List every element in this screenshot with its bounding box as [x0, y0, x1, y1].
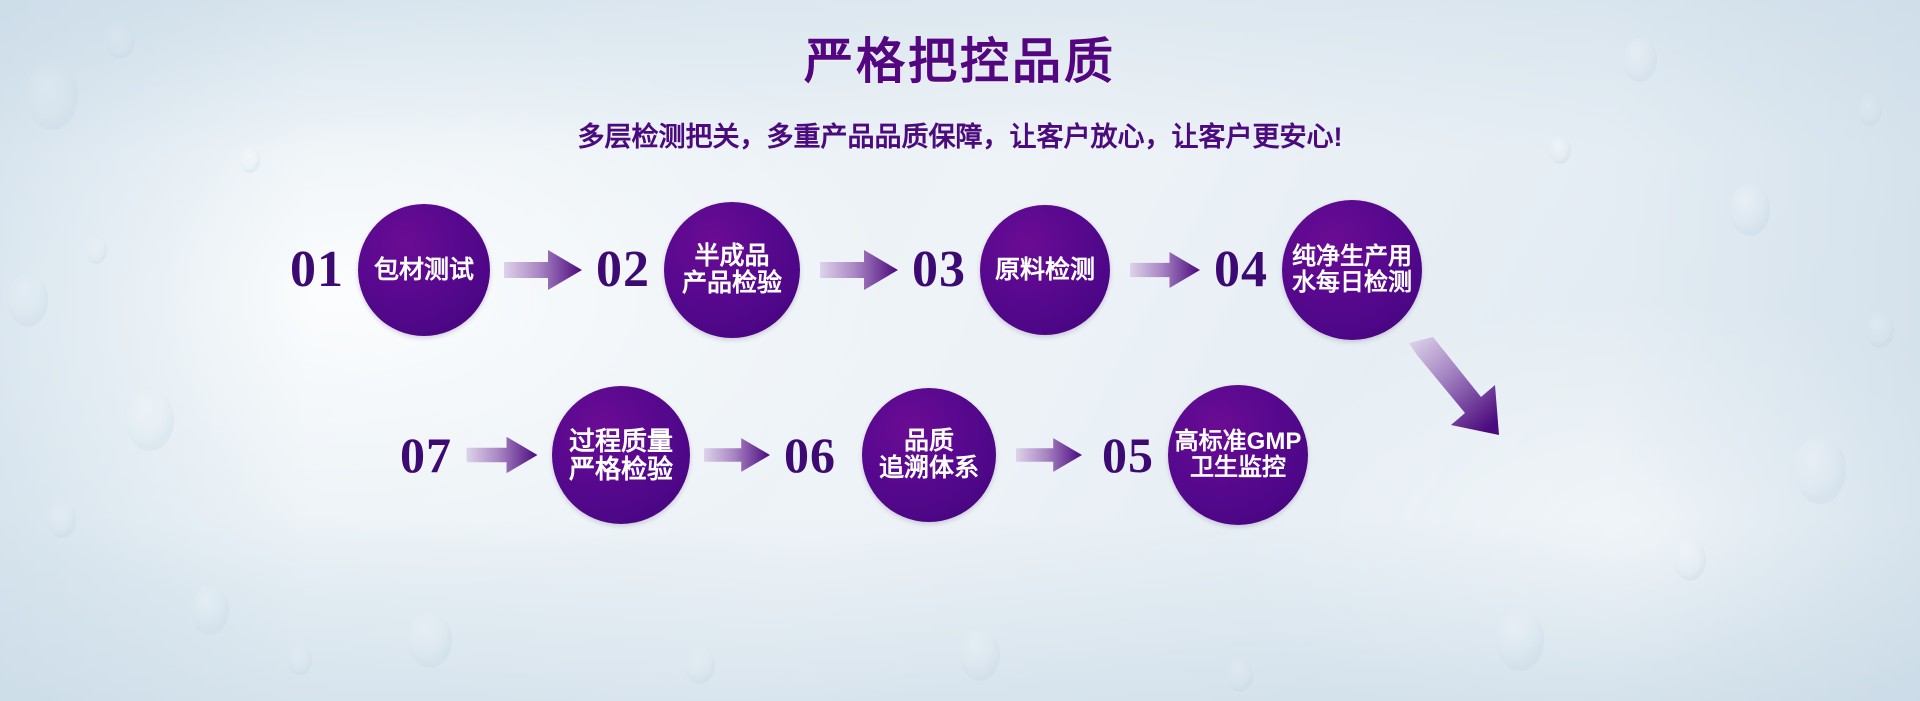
step-bubble-label: 品质 追溯体系 [875, 428, 983, 482]
quality-control-infographic: 严格把控品质 多层检测把关，多重产品品质保障，让客户放心，让客户更安心! 01 … [0, 0, 1920, 701]
arrow-right-icon [704, 436, 770, 474]
step-bubble-label: 纯净生产用 水每日检测 [1288, 244, 1416, 296]
step-bubble-guocheng-zhiliang-yange-jianyan[interactable]: 过程质量 严格检验 [552, 386, 690, 524]
step-bubble-label: 半成品 产品检验 [678, 243, 786, 297]
flow-row-top: 01 包材测试 02 半成品 产品检验 03 [290, 200, 1422, 340]
step-bubble-label: 包材测试 [370, 257, 478, 284]
page-title: 严格把控品质 [0, 22, 1920, 93]
edge-vignette [0, 0, 1920, 701]
step-bubble-pinzhi-zhuisu-tixi[interactable]: 品质 追溯体系 [862, 388, 996, 522]
step-bubble-yuanliao-jiance[interactable]: 原料检测 [980, 205, 1110, 335]
step-bubble-label: 过程质量 严格检验 [565, 427, 677, 483]
arrow-right-icon [1130, 250, 1200, 290]
arrow-right-icon [820, 248, 898, 292]
water-droplet-texture [0, 0, 1920, 701]
step-bubble-chunjing-shengchan-shui[interactable]: 纯净生产用 水每日检测 [1282, 200, 1422, 340]
step-bubble-label: 原料检测 [991, 257, 1099, 284]
step-bubble-baocai-ceshi[interactable]: 包材测试 [358, 204, 490, 336]
step-number-04: 04 [1214, 244, 1268, 296]
step-number-06: 06 [784, 430, 836, 480]
step-bubble-gaobiaozhun-gmp-weisheng-jiankong[interactable]: 高标准GMP 卫生监控 [1168, 385, 1308, 525]
step-number-05: 05 [1102, 430, 1154, 480]
step-number-02: 02 [596, 244, 650, 296]
flow-row-bottom: 07 过程质量 严格检验 06 品质 追溯体系 05 高标准GMP 卫生监控 [400, 385, 1308, 525]
step-number-07: 07 [400, 430, 452, 480]
step-number-01: 01 [290, 244, 344, 296]
step-number-03: 03 [912, 244, 966, 296]
step-bubble-label: 高标准GMP 卫生监控 [1171, 429, 1306, 481]
arrow-right-icon [504, 248, 582, 292]
arrow-diagonal-down-icon [1405, 333, 1525, 453]
arrow-right-icon [466, 435, 538, 475]
step-bubble-banchengpin-chanpin-jianyan[interactable]: 半成品 产品检验 [664, 202, 800, 338]
page-subtitle: 多层检测把关，多重产品品质保障，让客户放心，让客户更安心! [0, 115, 1920, 154]
arrow-right-icon [1016, 436, 1082, 474]
